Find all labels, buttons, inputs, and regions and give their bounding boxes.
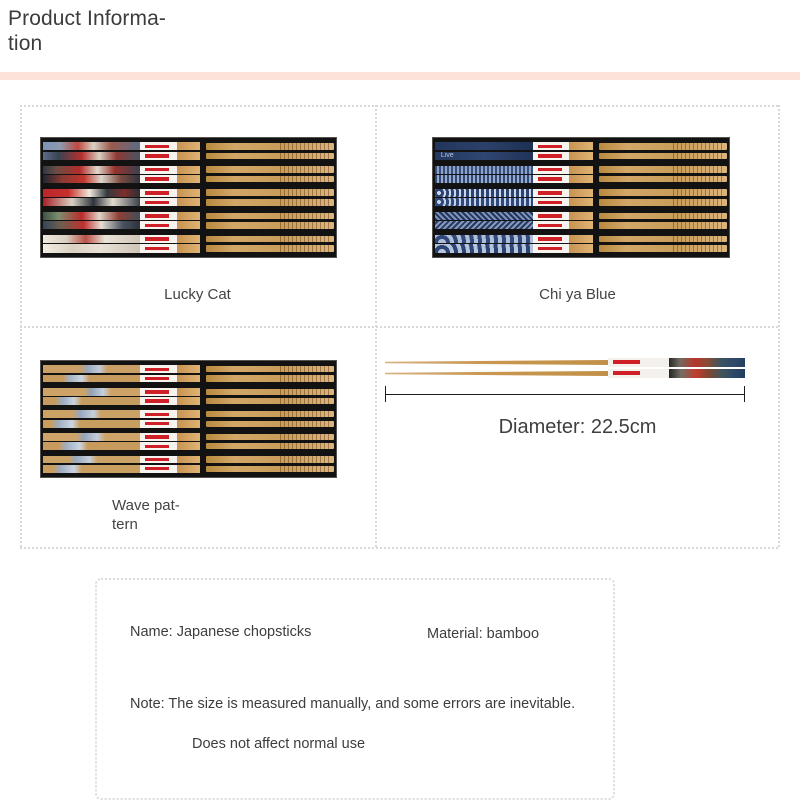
chopstick bbox=[599, 166, 727, 173]
bare-chopstick-pair bbox=[599, 189, 727, 205]
tray-row bbox=[435, 187, 727, 207]
sleeve bbox=[435, 221, 593, 229]
chopstick bbox=[206, 176, 334, 183]
sleeve-label bbox=[140, 410, 176, 418]
sleeve-print bbox=[435, 221, 533, 229]
bare-chopstick-pair bbox=[206, 166, 334, 182]
chopstick-tip bbox=[177, 388, 201, 396]
sleeve-label bbox=[140, 456, 176, 464]
sleeve bbox=[43, 410, 200, 418]
sleeve bbox=[43, 189, 200, 197]
chopstick-lower bbox=[385, 369, 745, 378]
chopstick-tip bbox=[177, 142, 201, 150]
tray-row bbox=[435, 234, 727, 254]
chopstick bbox=[206, 434, 334, 440]
sleeve-print bbox=[43, 433, 140, 441]
sleeve-label bbox=[140, 175, 176, 183]
bare-chopstick-pair bbox=[599, 143, 727, 159]
sleeve-label bbox=[140, 198, 176, 206]
sleeve bbox=[43, 175, 200, 183]
tray-row bbox=[43, 409, 334, 429]
chopstick bbox=[206, 166, 334, 173]
wrapped-chopsticks bbox=[435, 166, 593, 183]
bare-chopstick-pair bbox=[599, 236, 727, 252]
wrapped-chopsticks bbox=[43, 388, 200, 405]
chopstick bbox=[206, 421, 334, 427]
chopstick-tip bbox=[177, 235, 201, 243]
sleeve-label bbox=[140, 388, 176, 396]
sleeve-print bbox=[43, 221, 140, 229]
sleeve-label bbox=[140, 465, 176, 473]
tray-row: Live bbox=[435, 141, 727, 161]
chopstick bbox=[206, 466, 334, 472]
bare-chopstick-pair bbox=[206, 143, 334, 159]
tray-row bbox=[43, 164, 334, 184]
chopstick-tip bbox=[177, 152, 201, 160]
chopstick-tip bbox=[569, 244, 593, 252]
product-cell-chi-ya-blue[interactable]: Live bbox=[377, 105, 778, 326]
bare-chopstick-pair bbox=[206, 411, 334, 427]
sleeve bbox=[43, 166, 200, 174]
product-label-wave-pattern: Wave pat- tern bbox=[112, 496, 180, 534]
sleeve-print bbox=[43, 420, 140, 428]
chopstick-label-band bbox=[608, 358, 669, 367]
sleeve bbox=[43, 365, 200, 373]
sleeve-label bbox=[140, 375, 176, 383]
sleeve bbox=[435, 142, 593, 150]
grid-line-right bbox=[778, 105, 780, 547]
sleeve-label bbox=[140, 212, 176, 220]
chopstick-print-section bbox=[669, 358, 745, 367]
chopstick-tip bbox=[177, 244, 201, 252]
sleeve-label bbox=[533, 221, 569, 229]
dimension-measure-bar bbox=[385, 386, 745, 402]
wrapped-chopsticks bbox=[435, 189, 593, 206]
tray-row bbox=[43, 432, 334, 452]
tray-row bbox=[435, 210, 727, 230]
sleeve bbox=[43, 397, 200, 405]
chopstick-tip bbox=[177, 456, 201, 464]
chopstick bbox=[599, 199, 727, 206]
wrapped-chopsticks bbox=[43, 189, 200, 206]
chopstick-tip bbox=[569, 189, 593, 197]
bare-chopstick-pair bbox=[206, 456, 334, 472]
chopstick-tip bbox=[569, 235, 593, 243]
chopstick bbox=[599, 213, 727, 220]
header-divider bbox=[0, 72, 800, 80]
chopstick-tip bbox=[569, 221, 593, 229]
sleeve-print bbox=[43, 189, 140, 197]
wrapped-chopsticks bbox=[435, 212, 593, 229]
sleeve-label bbox=[533, 189, 569, 197]
chopstick-tip bbox=[177, 175, 201, 183]
bare-chopstick-pair bbox=[599, 166, 727, 182]
product-cell-lucky-cat[interactable]: Lucky Cat bbox=[20, 105, 375, 326]
sleeve bbox=[435, 244, 593, 252]
sleeve bbox=[43, 456, 200, 464]
chopstick-tip bbox=[569, 152, 593, 160]
tray-row bbox=[43, 454, 334, 474]
sleeve-print bbox=[43, 152, 140, 160]
chopstick bbox=[599, 176, 727, 183]
chopstick-tip bbox=[177, 410, 201, 418]
sleeve-print bbox=[435, 166, 533, 174]
tray-row bbox=[43, 234, 334, 254]
chopstick-tip bbox=[177, 442, 201, 450]
chopstick bbox=[206, 411, 334, 417]
sleeve-label bbox=[140, 142, 176, 150]
bare-chopstick-pair bbox=[206, 189, 334, 205]
sleeve-print bbox=[43, 244, 140, 252]
tray-row bbox=[43, 364, 334, 384]
chopstick bbox=[599, 236, 727, 243]
spec-name: Name: Japanese chopsticks bbox=[130, 624, 311, 640]
sleeve bbox=[435, 198, 593, 206]
sleeve bbox=[435, 189, 593, 197]
sleeve-label bbox=[533, 212, 569, 220]
chopstick-tip bbox=[177, 365, 201, 373]
chopstick-tip bbox=[177, 433, 201, 441]
dimension-cap-left bbox=[385, 386, 386, 402]
chopstick-tip bbox=[569, 212, 593, 220]
sleeve-label bbox=[140, 235, 176, 243]
sleeve-print bbox=[43, 198, 140, 206]
wrapped-chopsticks bbox=[43, 410, 200, 427]
product-cell-wave-pattern[interactable]: Wave pat- tern bbox=[20, 328, 375, 547]
chopstick bbox=[206, 199, 334, 206]
chopstick-tip bbox=[177, 397, 201, 405]
chopstick bbox=[206, 456, 334, 462]
sleeve-label bbox=[533, 244, 569, 252]
chopstick-tip bbox=[569, 142, 593, 150]
sleeve-print bbox=[43, 465, 140, 473]
sleeve bbox=[43, 244, 200, 252]
spec-material: Material: bamboo bbox=[427, 626, 539, 642]
chopstick bbox=[206, 222, 334, 229]
spec-note: Note: The size is measured manually, and… bbox=[130, 696, 575, 712]
product-gallery-grid: Lucky Cat Live bbox=[20, 105, 778, 547]
sleeve bbox=[435, 166, 593, 174]
sleeve-label bbox=[140, 433, 176, 441]
sleeve-print bbox=[43, 175, 140, 183]
bare-chopstick-pair bbox=[206, 236, 334, 252]
sleeve-print bbox=[43, 442, 140, 450]
chopstick bbox=[599, 153, 727, 160]
chopstick-upper bbox=[385, 358, 745, 367]
chopstick bbox=[206, 389, 334, 395]
sleeve-print bbox=[43, 142, 140, 150]
sleeve bbox=[43, 388, 200, 396]
wrapped-chopsticks bbox=[43, 456, 200, 473]
tray-row bbox=[43, 387, 334, 407]
tray-row bbox=[435, 164, 727, 184]
sleeve-print bbox=[43, 388, 140, 396]
sleeve-print bbox=[43, 397, 140, 405]
chopstick-tip bbox=[177, 212, 201, 220]
bare-chopstick-pair bbox=[206, 366, 334, 382]
chopstick bbox=[206, 443, 334, 449]
chopstick-label-band bbox=[608, 369, 669, 378]
sleeve-print bbox=[43, 365, 140, 373]
sleeve-label bbox=[140, 365, 176, 373]
tray-row bbox=[43, 187, 334, 207]
chopstick-taper bbox=[385, 360, 608, 365]
sleeve-print bbox=[435, 244, 533, 252]
wrapped-chopsticks bbox=[43, 235, 200, 252]
chopstick-taper bbox=[385, 371, 608, 376]
sleeve-label bbox=[533, 142, 569, 150]
specifications-box: Name: Japanese chopsticks Material: bamb… bbox=[95, 578, 615, 800]
chopstick bbox=[206, 213, 334, 220]
chopstick-print-section bbox=[669, 369, 745, 378]
sleeve-label bbox=[140, 152, 176, 160]
bare-chopstick-pair bbox=[206, 434, 334, 450]
sleeve-print bbox=[43, 212, 140, 220]
product-label-lucky-cat: Lucky Cat bbox=[20, 285, 375, 304]
sleeve bbox=[43, 442, 200, 450]
sleeve bbox=[43, 198, 200, 206]
sleeve bbox=[43, 221, 200, 229]
sleeve-label bbox=[140, 442, 176, 450]
sleeve-print bbox=[435, 189, 533, 197]
chopstick bbox=[206, 236, 334, 243]
tray-row bbox=[43, 210, 334, 230]
product-image-lucky-cat bbox=[40, 137, 337, 258]
wrapped-chopsticks bbox=[43, 433, 200, 450]
chopstick-tip bbox=[177, 420, 201, 428]
wrapped-chopsticks bbox=[43, 365, 200, 382]
sleeve-label bbox=[140, 244, 176, 252]
chopstick bbox=[206, 143, 334, 150]
sleeve-print bbox=[435, 212, 533, 220]
spec-note-secondary: Does not affect normal use bbox=[192, 736, 365, 752]
chopstick-tip bbox=[569, 166, 593, 174]
chopstick bbox=[206, 245, 334, 252]
sleeve bbox=[435, 235, 593, 243]
sleeve-label bbox=[533, 235, 569, 243]
chopstick bbox=[206, 189, 334, 196]
chopstick-tip bbox=[569, 198, 593, 206]
chopstick-tip bbox=[177, 465, 201, 473]
chopstick-tip bbox=[569, 175, 593, 183]
sleeve-label bbox=[533, 152, 569, 160]
sleeve-print bbox=[43, 410, 140, 418]
tray-row bbox=[43, 141, 334, 161]
bare-chopstick-pair bbox=[206, 389, 334, 405]
sleeve-label bbox=[533, 166, 569, 174]
sleeve bbox=[43, 375, 200, 383]
sleeve-with-text: Live bbox=[435, 152, 593, 160]
grid-line-bottom bbox=[20, 547, 778, 549]
product-cell-diameter[interactable]: Diameter: 22.5cm bbox=[377, 328, 778, 547]
product-label-chi-ya-blue: Chi ya Blue bbox=[377, 285, 778, 304]
sleeve bbox=[43, 235, 200, 243]
wrapped-chopsticks: Live bbox=[435, 142, 593, 159]
page-title: Product Informa- tion bbox=[8, 6, 208, 56]
dimension-cap-right bbox=[744, 386, 745, 402]
chopstick-tip bbox=[177, 221, 201, 229]
wrapped-chopsticks bbox=[43, 142, 200, 159]
wrapped-chopsticks bbox=[43, 212, 200, 229]
chopstick bbox=[206, 398, 334, 404]
wrapped-chopsticks bbox=[43, 166, 200, 183]
sleeve-label bbox=[140, 221, 176, 229]
sleeve-label bbox=[533, 175, 569, 183]
sleeve-label bbox=[140, 397, 176, 405]
sleeve-label bbox=[140, 420, 176, 428]
sleeve-label bbox=[140, 189, 176, 197]
chopstick bbox=[206, 366, 334, 372]
sleeve bbox=[435, 212, 593, 220]
chopstick bbox=[599, 222, 727, 229]
dimension-line bbox=[385, 394, 745, 395]
wrapped-chopsticks bbox=[435, 235, 593, 252]
sleeve bbox=[43, 465, 200, 473]
chopstick bbox=[599, 189, 727, 196]
dimension-label: Diameter: 22.5cm bbox=[377, 416, 778, 439]
chopstick bbox=[206, 153, 334, 160]
sleeve-print bbox=[43, 235, 140, 243]
sleeve bbox=[43, 433, 200, 441]
sleeve-print bbox=[435, 198, 533, 206]
sleeve bbox=[43, 212, 200, 220]
sleeve bbox=[43, 420, 200, 428]
sleeve-print bbox=[43, 456, 140, 464]
chopstick-tip bbox=[177, 166, 201, 174]
sleeve-label bbox=[140, 166, 176, 174]
chopstick bbox=[599, 143, 727, 150]
chopstick-tip bbox=[177, 375, 201, 383]
sleeve-text: Live bbox=[441, 152, 454, 159]
chopstick bbox=[206, 375, 334, 381]
sleeve-label bbox=[533, 198, 569, 206]
sleeve-print bbox=[435, 142, 533, 150]
chopstick bbox=[599, 245, 727, 252]
chopstick-tip bbox=[177, 198, 201, 206]
bare-chopstick-pair bbox=[206, 213, 334, 229]
bare-chopstick-pair bbox=[599, 213, 727, 229]
sleeve bbox=[435, 175, 593, 183]
single-chopstick-pair-image bbox=[385, 352, 745, 386]
sleeve-print: Live bbox=[435, 152, 533, 160]
sleeve bbox=[43, 142, 200, 150]
sleeve-print bbox=[43, 375, 140, 383]
chopstick-tip bbox=[177, 189, 201, 197]
product-image-chi-ya-blue: Live bbox=[432, 137, 730, 258]
sleeve-print bbox=[43, 166, 140, 174]
sleeve bbox=[43, 152, 200, 160]
product-image-wave-pattern bbox=[40, 360, 337, 478]
sleeve-print bbox=[435, 175, 533, 183]
sleeve-print bbox=[435, 235, 533, 243]
